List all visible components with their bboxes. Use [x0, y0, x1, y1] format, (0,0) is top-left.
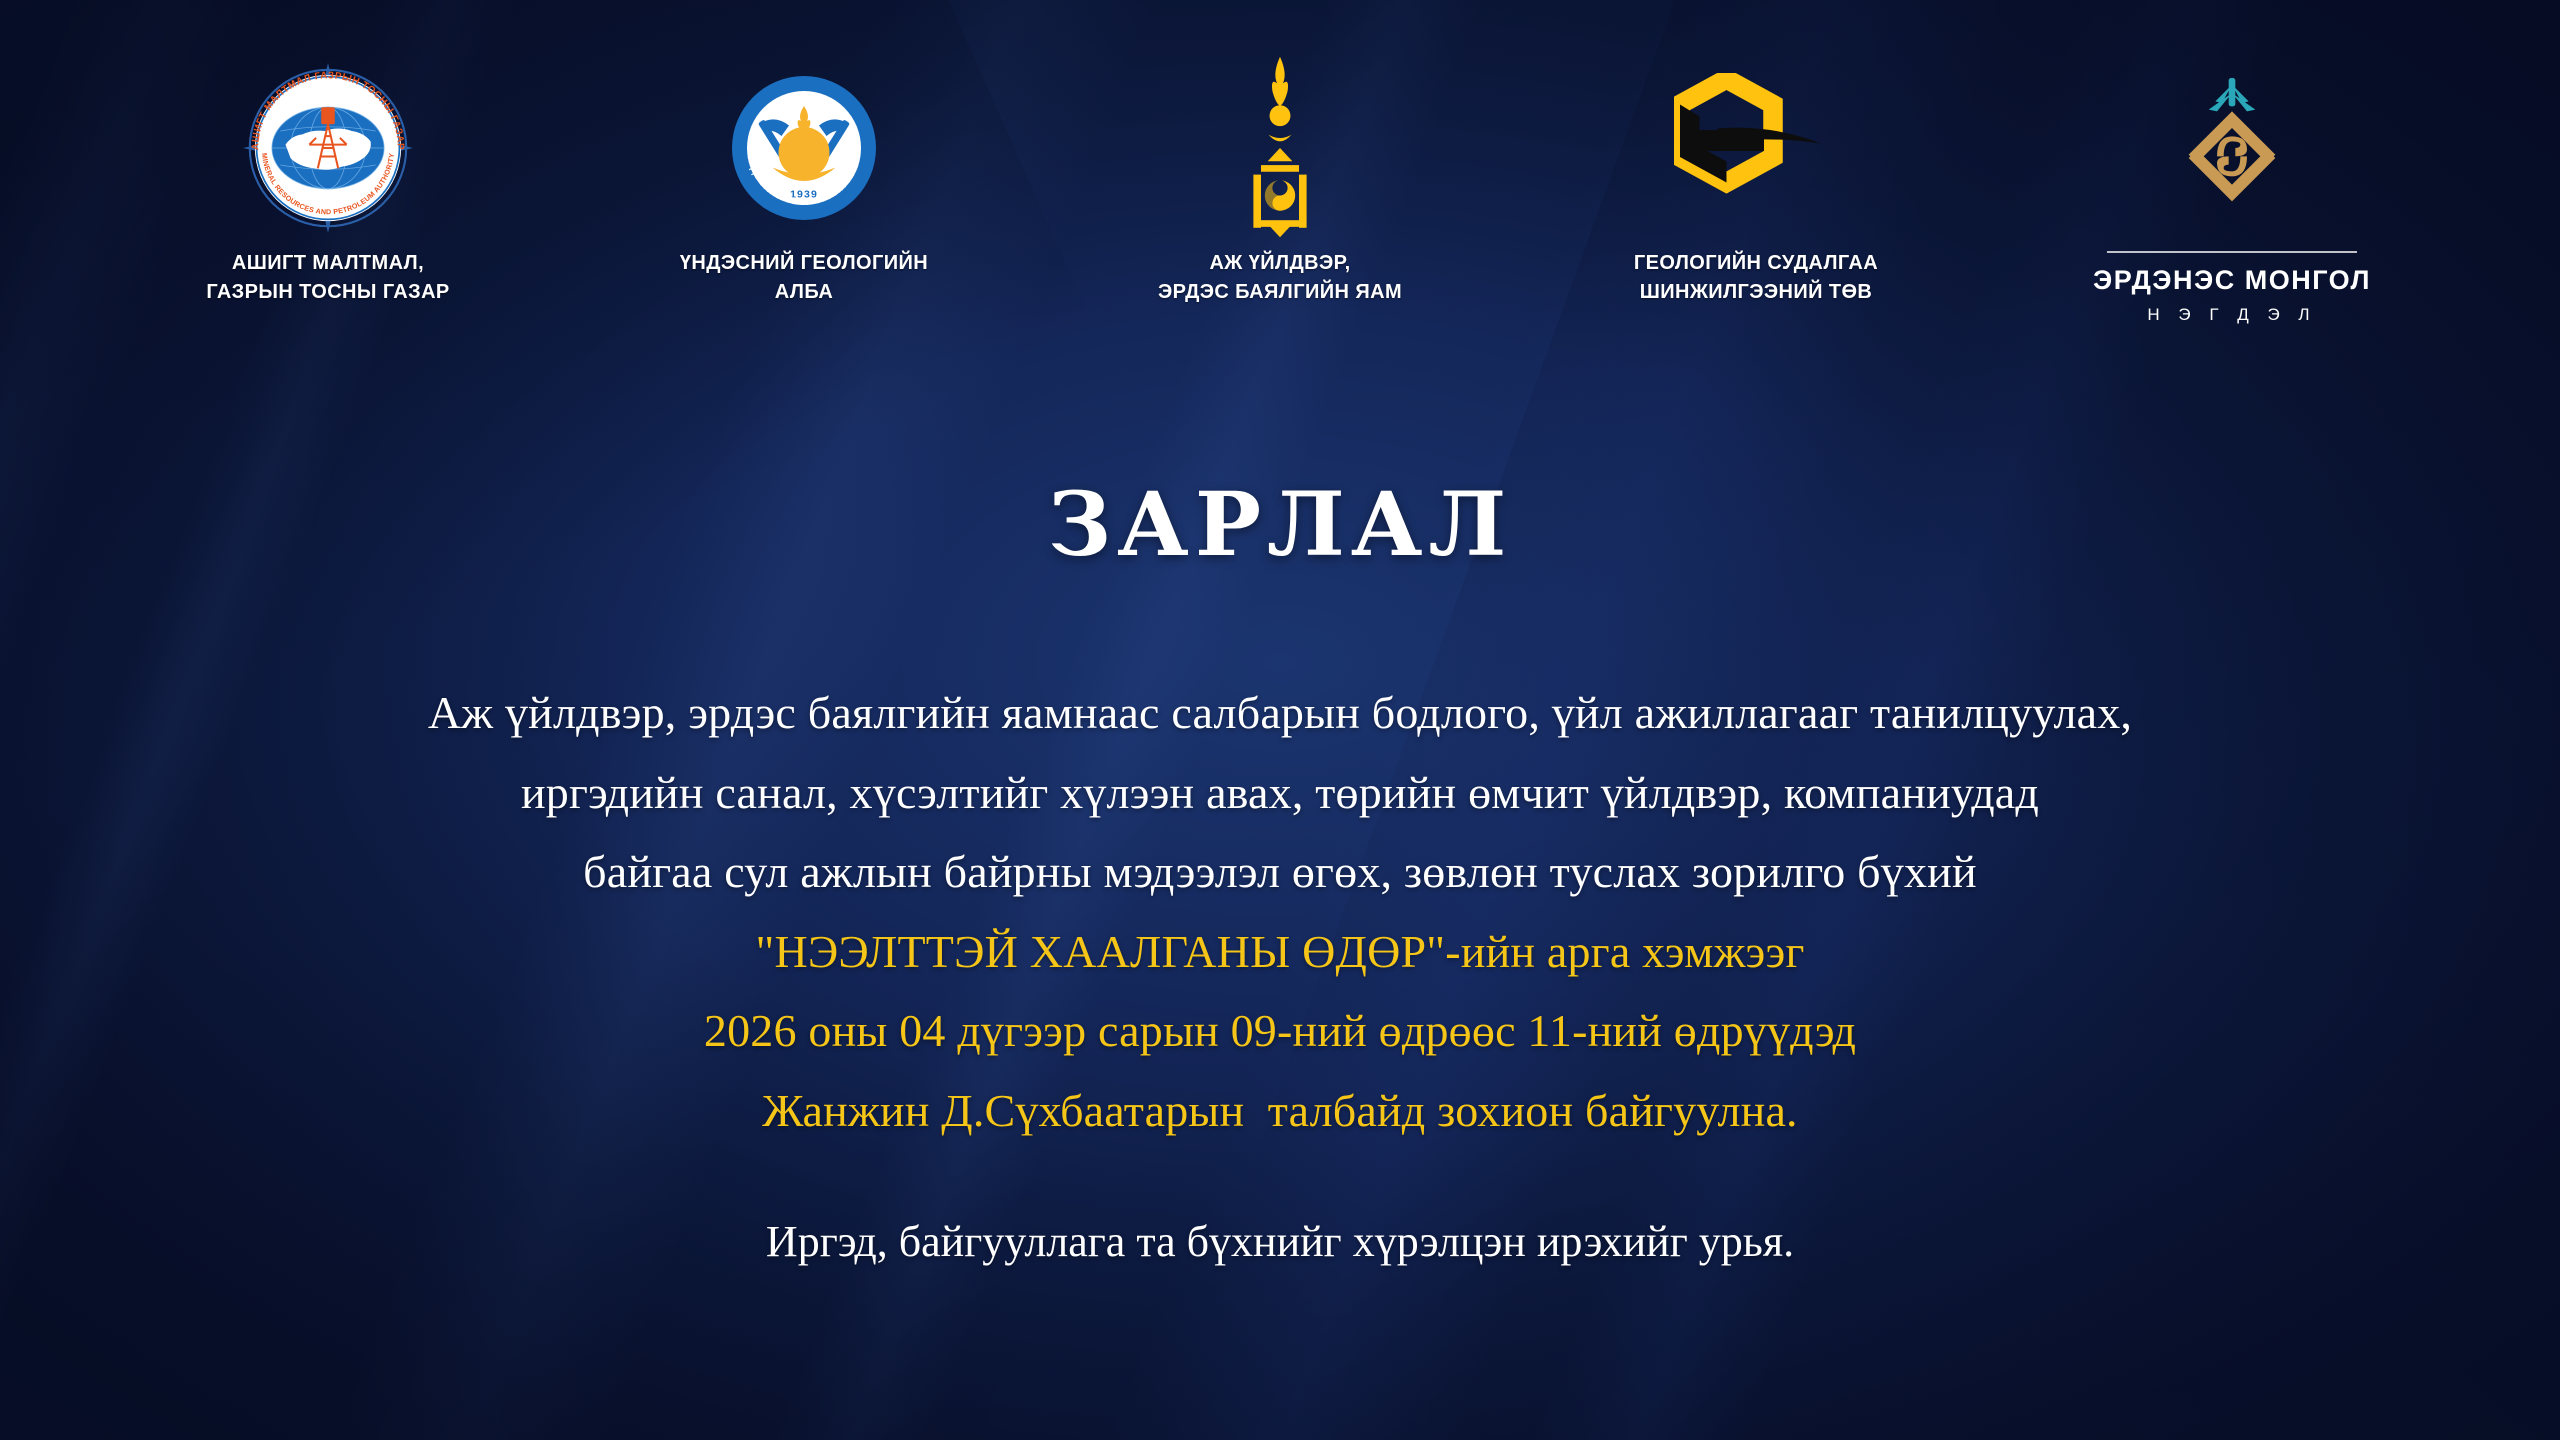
announcement-line: иргэдийн санал, хүсэлтийг хүлээн авах, т…: [0, 753, 2560, 833]
announcement-line-highlight: 2026 оны 04 дүгээр сарын 09-ний өдрөөс 1…: [0, 991, 2560, 1071]
erdenes-mongol-wordmark: ЭРДЭНЭС МОНГОЛ Н Э Г Д Э Л: [2093, 235, 2371, 325]
hexagon-g-icon: [1674, 60, 1839, 235]
logo-ministry-industry-mineral-resources: АЖ ҮЙЛДВЭР, ЭРДЭС БАЯЛГИЙН ЯАМ: [1080, 60, 1480, 307]
soyombo-emblem-icon: [1232, 60, 1328, 235]
logo-mineral-resources-petroleum-authority: АШИГТ МАЛТМАЛ ГАЗРЫН ТОСНЫ ГАЗАР MINERAL…: [128, 60, 528, 307]
announcement-line-highlight: "НЭЭЛТТЭЙ ХААЛГАНЫ ӨДӨР"-ийн арга хэмжээ…: [0, 912, 2560, 992]
partner-logo-bar: АШИГТ МАЛТМАЛ ГАЗРЫН ТОСНЫ ГАЗАР MINERAL…: [0, 60, 2560, 325]
logo-label: ҮНДЭСНИЙ ГЕОЛОГИЙН АЛБА: [680, 249, 928, 307]
announcement-poster: АШИГТ МАЛТМАЛ ГАЗРЫН ТОСНЫ ГАЗАР MINERAL…: [0, 0, 2560, 1440]
logo-label: АШИГТ МАЛТМАЛ, ГАЗРЫН ТОСНЫ ГАЗАР: [206, 249, 449, 307]
logo-geological-research-center: ГЕОЛОГИЙН СУДАЛГАА ШИНЖИЛГЭЭНИЙ ТӨВ: [1556, 60, 1956, 307]
logo-label: ЭРДЭНЭС МОНГОЛ: [2093, 265, 2371, 296]
announcement-content: ЗАРЛАЛ Аж үйлдвэр, эрдэс баялгийн яамнаа…: [0, 480, 2560, 1267]
logo-sublabel: Н Э Г Д Э Л: [2147, 305, 2316, 325]
crossed-hammers-sun-seal-icon: 1939 ҮНДЭСНИЙ ГЕОЛОГИЙН АЛБА: [729, 60, 879, 235]
announcement-line: байгаа сул ажлын байрны мэдээлэл өгөх, з…: [0, 832, 2560, 912]
announcement-line-highlight: Жанжин Д.Сүхбаатарын талбайд зохион байг…: [0, 1071, 2560, 1151]
announcement-line: Аж үйлдвэр, эрдэс баялгийн яамнаас салба…: [0, 673, 2560, 753]
globe-map-derrick-emblem-icon: АШИГТ МАЛТМАЛ ГАЗРЫН ТОСНЫ ГАЗАР MINERAL…: [243, 60, 413, 235]
announcement-closing: Иргэд, байгууллага та бүхнийг хүрэлцэн и…: [0, 1216, 2560, 1267]
page-title: ЗАРЛАЛ: [0, 480, 2560, 568]
diamond-knot-icon: [2172, 60, 2292, 235]
logo-label: ГЕОЛОГИЙН СУДАЛГАА ШИНЖИЛГЭЭНИЙ ТӨВ: [1634, 249, 1878, 307]
logo-label: АЖ ҮЙЛДВЭР, ЭРДЭС БАЯЛГИЙН ЯАМ: [1158, 249, 1402, 307]
announcement-body: Аж үйлдвэр, эрдэс баялгийн яамнаас салба…: [0, 673, 2560, 1150]
logo-erdenes-mongol: ЭРДЭНЭС МОНГОЛ Н Э Г Д Э Л: [2032, 60, 2432, 325]
wordmark-divider: [2107, 251, 2357, 253]
logo-national-geological-service: 1939 ҮНДЭСНИЙ ГЕОЛОГИЙН АЛБА ҮНДЭСНИЙ ГЕ…: [604, 60, 1004, 307]
